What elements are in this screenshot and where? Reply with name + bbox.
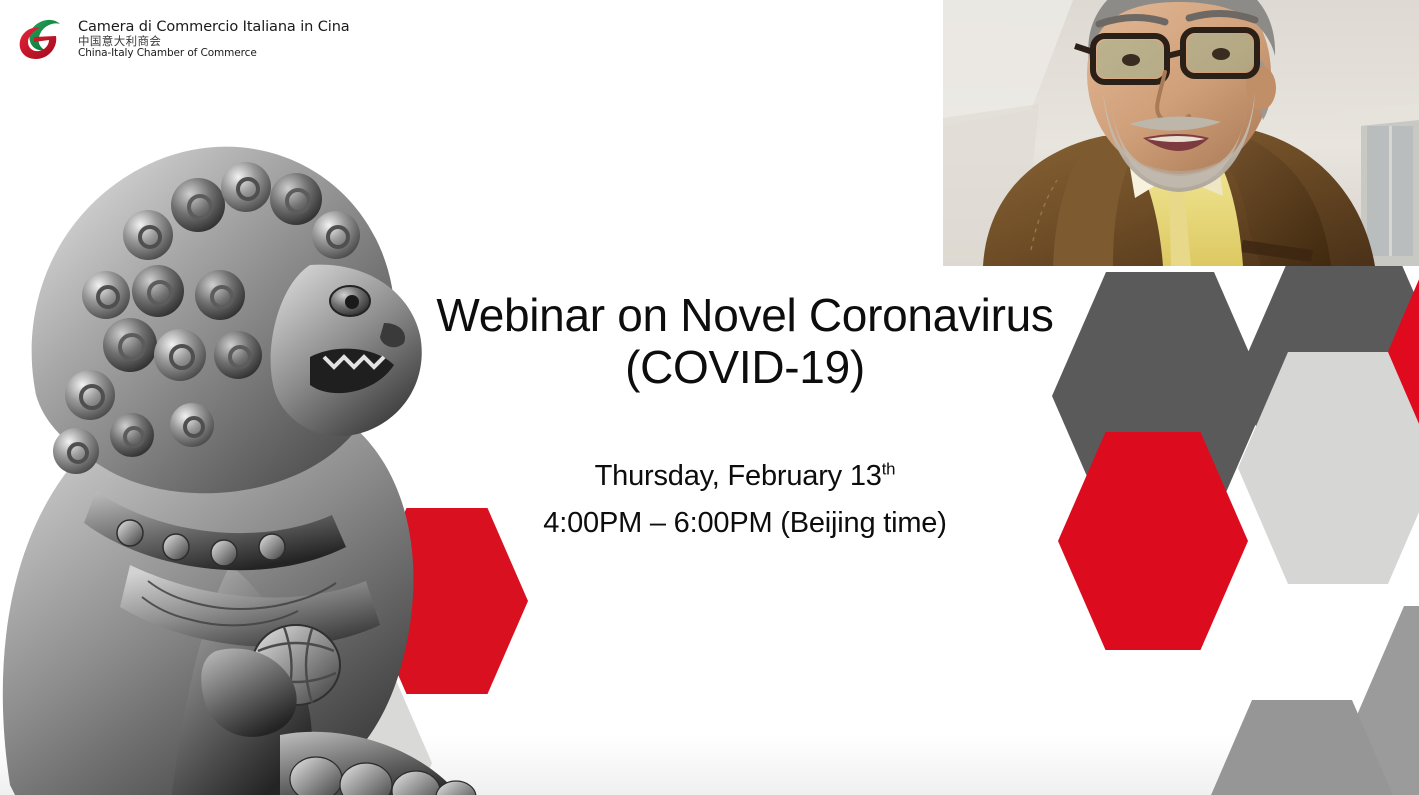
webinar-date-text: Thursday, February 13 <box>595 460 882 492</box>
speaker-video-tile[interactable] <box>943 0 1419 266</box>
slide-title-line-1: Webinar on Novel Coronavirus <box>400 290 1090 342</box>
slide-subtitle: Thursday, February 13th 4:00PM – 6:00PM … <box>400 453 1090 547</box>
logo-text-chinese: 中国意大利商会 <box>78 35 350 48</box>
logo-text-italian: Camera di Commercio Italiana in Cina <box>78 19 350 35</box>
organization-logo: Camera di Commercio Italiana in Cina 中国意… <box>14 12 350 66</box>
logo-text-english: China-Italy Chamber of Commerce <box>78 48 350 60</box>
webinar-time: 4:00PM – 6:00PM (Beijing time) <box>400 500 1090 547</box>
webinar-date-ordinal-suffix: th <box>882 459 896 478</box>
slide-text-block: Webinar on Novel Coronavirus (COVID-19) … <box>400 290 1090 547</box>
webinar-date: Thursday, February 13th <box>400 453 1090 500</box>
slide-title-line-2: (COVID-19) <box>400 342 1090 394</box>
slide-title: Webinar on Novel Coronavirus (COVID-19) <box>400 290 1090 393</box>
presentation-slide: Camera di Commercio Italiana in Cina 中国意… <box>0 0 1419 795</box>
cicc-swirl-logo-icon <box>14 12 68 66</box>
